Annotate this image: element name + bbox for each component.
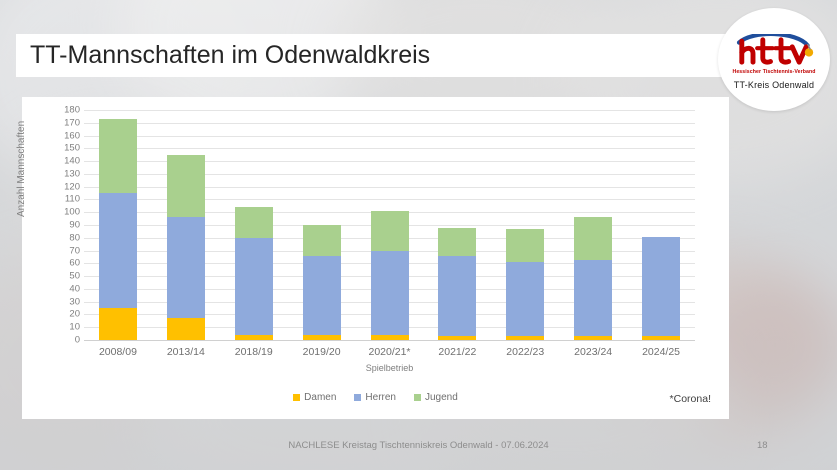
bar-segment-jugend[interactable] bbox=[167, 155, 205, 218]
x-axis-title: Spielbetrieb bbox=[84, 363, 695, 373]
y-axis-tick-label: 130 bbox=[64, 168, 80, 179]
bar-segment-herren[interactable] bbox=[235, 238, 273, 335]
y-axis-tick-label: 110 bbox=[65, 194, 80, 205]
bar-segment-damen[interactable] bbox=[574, 336, 612, 340]
logo-district-text: TT-Kreis Odenwald bbox=[734, 80, 814, 90]
legend-item-jugend[interactable]: Jugend bbox=[414, 392, 458, 403]
bar-segment-jugend[interactable] bbox=[99, 119, 137, 193]
legend-swatch-icon bbox=[414, 394, 421, 401]
y-axis-tick-label: 50 bbox=[69, 271, 80, 282]
bar-segment-herren[interactable] bbox=[99, 193, 137, 308]
y-axis-tick-label: 60 bbox=[69, 258, 80, 269]
bar-segment-damen[interactable] bbox=[371, 335, 409, 340]
bar-column[interactable] bbox=[438, 228, 476, 340]
gridline bbox=[84, 340, 695, 341]
bar-segment-jugend[interactable] bbox=[574, 217, 612, 259]
bar-segment-herren[interactable] bbox=[303, 256, 341, 335]
bar-segment-damen[interactable] bbox=[303, 335, 341, 340]
y-axis-title: Anzahl Mannschaften bbox=[16, 121, 27, 217]
y-axis-tick-label: 180 bbox=[64, 105, 80, 116]
y-axis-tick-label: 40 bbox=[69, 283, 80, 294]
x-axis-tick-label: 2024/25 bbox=[642, 346, 680, 358]
bar-segment-jugend[interactable] bbox=[303, 225, 341, 256]
x-axis-tick-label: 2022/23 bbox=[506, 346, 544, 358]
y-axis-tick-label: 30 bbox=[69, 296, 80, 307]
plot-area bbox=[84, 110, 695, 340]
y-axis-tick-label: 170 bbox=[64, 117, 80, 128]
bar-column[interactable] bbox=[574, 217, 612, 340]
httv-logo: Hessischer Tischtennis-Verband TT-Kreis … bbox=[718, 8, 830, 111]
bar-segment-jugend[interactable] bbox=[438, 228, 476, 256]
y-axis-tick-label: 80 bbox=[69, 232, 80, 243]
bar-segment-herren[interactable] bbox=[371, 251, 409, 335]
y-axis-tick-label: 20 bbox=[69, 309, 80, 320]
bar-segment-herren[interactable] bbox=[167, 217, 205, 318]
y-axis-tick-label: 160 bbox=[64, 130, 80, 141]
y-axis-tick-label: 0 bbox=[75, 335, 80, 346]
legend-label: Damen bbox=[304, 392, 336, 403]
bar-column[interactable] bbox=[642, 237, 680, 340]
chart-panel: Anzahl Mannschaften 01020304050607080901… bbox=[22, 97, 729, 419]
bar-column[interactable] bbox=[506, 229, 544, 340]
x-axis-tick-label: 2008/09 bbox=[99, 346, 137, 358]
bar-segment-damen[interactable] bbox=[506, 336, 544, 340]
legend-swatch-icon bbox=[354, 394, 361, 401]
y-axis-tick-labels: 0102030405060708090100110120130140150160… bbox=[36, 110, 80, 340]
x-axis-tick-label: 2023/24 bbox=[574, 346, 612, 358]
legend-label: Herren bbox=[365, 392, 396, 403]
bar-column[interactable] bbox=[167, 155, 205, 340]
y-axis-tick-label: 120 bbox=[64, 181, 80, 192]
x-axis-tick-label: 2013/14 bbox=[167, 346, 205, 358]
title-bar: TT-Mannschaften im Odenwaldkreis bbox=[16, 34, 821, 77]
bar-segment-herren[interactable] bbox=[574, 260, 612, 337]
bar-segment-jugend[interactable] bbox=[235, 207, 273, 238]
legend-item-herren[interactable]: Herren bbox=[354, 392, 396, 403]
y-axis-tick-label: 70 bbox=[69, 245, 80, 256]
bar-segment-damen[interactable] bbox=[642, 336, 680, 340]
bar-series-container bbox=[84, 110, 695, 340]
bar-segment-damen[interactable] bbox=[99, 308, 137, 340]
bar-segment-herren[interactable] bbox=[506, 262, 544, 336]
bar-segment-damen[interactable] bbox=[438, 336, 476, 340]
bar-column[interactable] bbox=[235, 207, 273, 340]
legend-label: Jugend bbox=[425, 392, 458, 403]
bar-segment-jugend[interactable] bbox=[371, 211, 409, 251]
y-axis-tick-label: 90 bbox=[69, 220, 80, 231]
x-axis-tick-label: 2018/19 bbox=[235, 346, 273, 358]
x-axis-tick-labels: 2008/092013/142018/192019/202020/21*2021… bbox=[84, 346, 695, 362]
x-axis-tick-label: 2019/20 bbox=[303, 346, 341, 358]
bar-column[interactable] bbox=[371, 211, 409, 340]
footer-note: NACHLESE Kreistag Tischtenniskreis Odenw… bbox=[0, 440, 837, 451]
x-axis-tick-label: 2020/21* bbox=[368, 346, 410, 358]
plot-wrapper: Anzahl Mannschaften 01020304050607080901… bbox=[22, 97, 729, 387]
bar-segment-jugend[interactable] bbox=[506, 229, 544, 262]
y-axis-tick-label: 100 bbox=[64, 207, 80, 218]
corona-annotation: *Corona! bbox=[670, 393, 711, 405]
httv-wordmark-icon bbox=[732, 34, 816, 68]
page-title: TT-Mannschaften im Odenwaldkreis bbox=[16, 41, 430, 70]
logo-association-text: Hessischer Tischtennis-Verband bbox=[732, 69, 815, 75]
bar-segment-damen[interactable] bbox=[235, 335, 273, 340]
bar-column[interactable] bbox=[99, 119, 137, 340]
bar-column[interactable] bbox=[303, 225, 341, 340]
page-number: 18 bbox=[757, 440, 768, 451]
x-axis-tick-label: 2021/22 bbox=[438, 346, 476, 358]
chart-legend: DamenHerrenJugend bbox=[22, 389, 729, 405]
bar-segment-herren[interactable] bbox=[438, 256, 476, 337]
bar-segment-damen[interactable] bbox=[167, 318, 205, 340]
legend-item-damen[interactable]: Damen bbox=[293, 392, 336, 403]
y-axis-tick-label: 140 bbox=[64, 156, 80, 167]
y-axis-tick-label: 150 bbox=[64, 143, 80, 154]
y-axis-tick-label: 10 bbox=[69, 322, 80, 333]
legend-swatch-icon bbox=[293, 394, 300, 401]
bar-segment-herren[interactable] bbox=[642, 237, 680, 337]
